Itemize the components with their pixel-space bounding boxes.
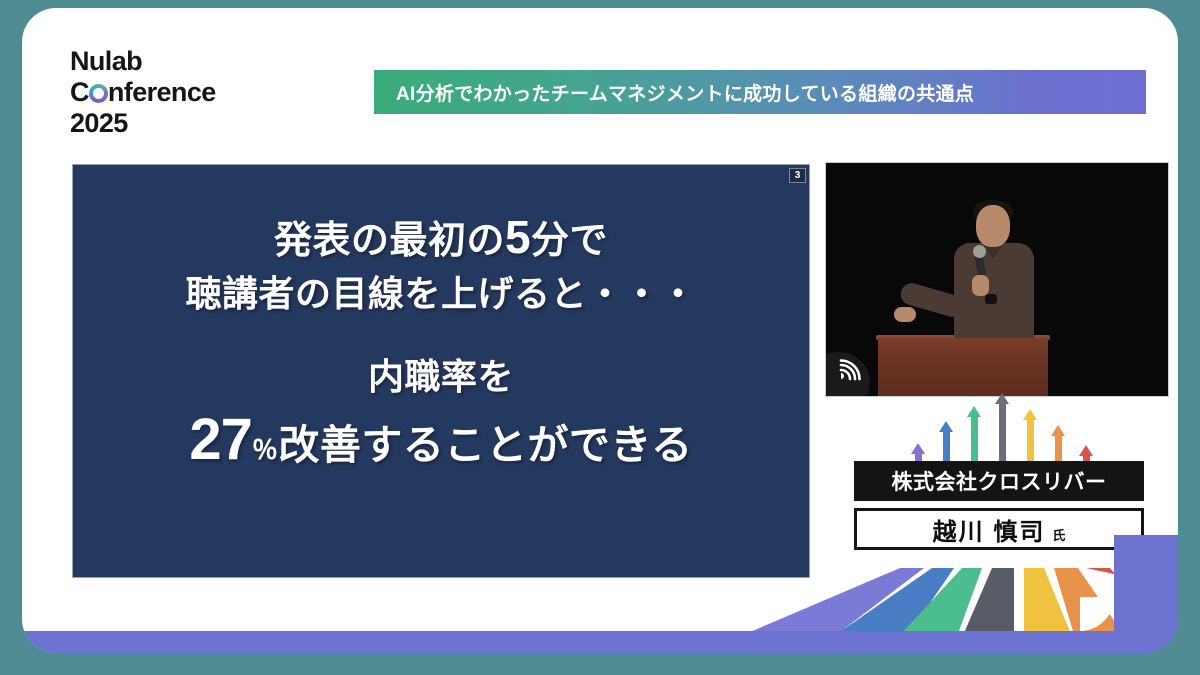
gradient-ring-o-icon [89, 84, 108, 103]
podium [878, 338, 1048, 396]
accent-band-bottom [22, 631, 1178, 653]
presentation-slide[interactable]: 3 発表の最初の5分で 聴講者の目線を上げると・・・ 内職率を 27％改善するこ… [72, 164, 810, 578]
slide-page-number: 3 [789, 168, 806, 183]
arrow-head [967, 406, 981, 417]
broadcast-icon [838, 358, 862, 382]
speaker-head [976, 205, 1010, 247]
speaker-right-hand [972, 275, 989, 296]
speaker-video-panel[interactable] [825, 162, 1169, 397]
speaker-watch [985, 294, 997, 304]
arrow-head [995, 393, 1009, 404]
arrow-head [1079, 445, 1093, 456]
nulab-conference-logo: NulabCnference2025 [70, 46, 216, 138]
speaker-left-hand [894, 307, 916, 322]
slide-line-2: 聴講者の目線を上げると・・・ [73, 270, 809, 319]
slide-content: 発表の最初の5分で 聴講者の目線を上げると・・・ 内職率を 27％改善することが… [73, 205, 809, 477]
slide-spacer [73, 319, 809, 353]
arrow-head [911, 443, 925, 454]
person-name-bar: 越川 慎司氏 [854, 508, 1144, 550]
person-name-text: 越川 慎司氏 [933, 512, 1066, 547]
session-title-text: AI分析でわかったチームマネジメントに成功している組織の共通点 [396, 79, 974, 106]
slide-line-3: 内職率を [73, 353, 809, 402]
microphone-head [973, 245, 986, 258]
logo-line-3: 2025 [70, 108, 128, 138]
arrow-head [939, 421, 953, 432]
screenshot-root: NulabCnference2025 AI分析でわかったチームマネジメントに成功… [0, 0, 1200, 675]
arrow-head [1051, 425, 1065, 436]
slide-line-4: 27％改善することができる [73, 402, 809, 477]
slide-line-1: 発表の最初の5分で [73, 205, 809, 270]
company-name-text: 株式会社クロスリバー [892, 466, 1107, 496]
logo-line-2: Cnference [70, 77, 216, 108]
logo-line-1: Nulab [70, 46, 142, 76]
arrow-head [1023, 409, 1037, 420]
slide-card: NulabCnference2025 AI分析でわかったチームマネジメントに成功… [22, 8, 1178, 653]
company-name-bar: 株式会社クロスリバー [854, 461, 1144, 501]
session-title-banner: AI分析でわかったチームマネジメントに成功している組織の共通点 [374, 70, 1146, 114]
